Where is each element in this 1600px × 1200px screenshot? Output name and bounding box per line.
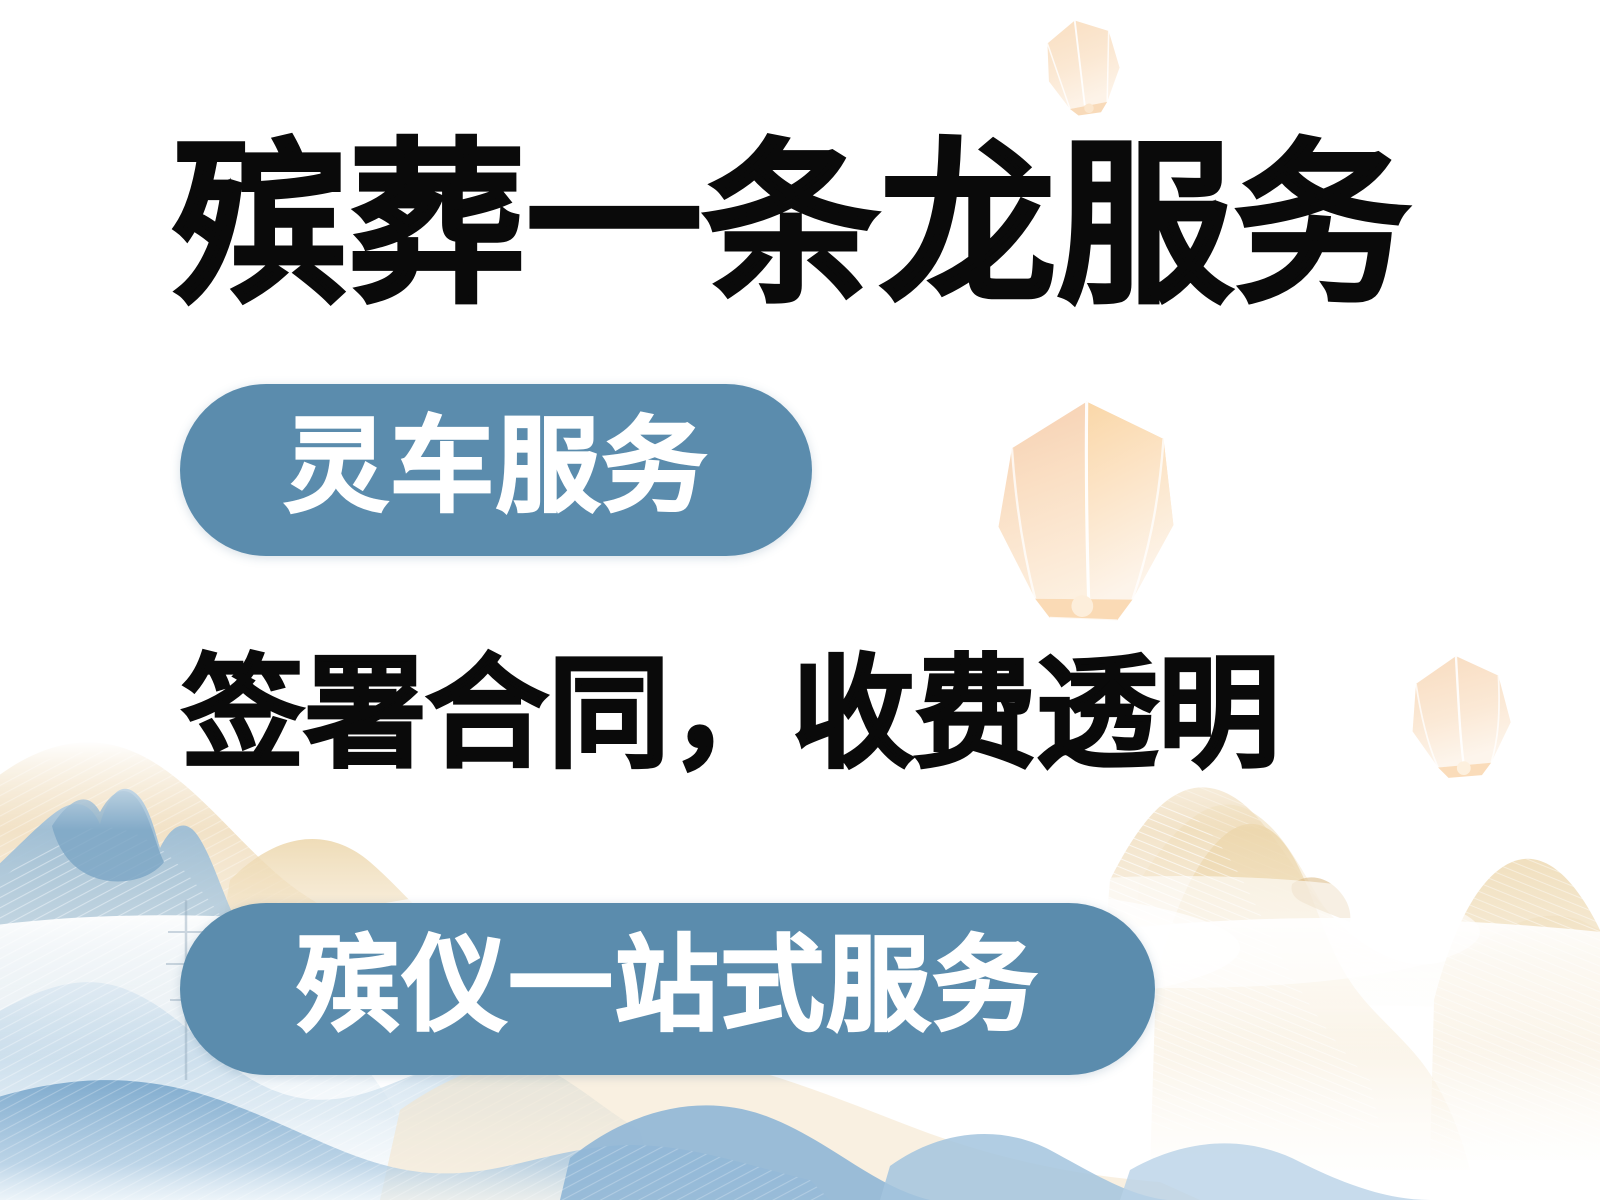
- pill-hearse-service[interactable]: 灵车服务: [180, 384, 812, 556]
- pill-one-stop-service-label: 殡仪一站式服务: [296, 934, 1038, 1044]
- pill-one-stop-service[interactable]: 殡仪一站式服务: [180, 903, 1155, 1075]
- page-title: 殡葬一条龙服务: [172, 140, 1432, 316]
- subtitle-contract-transparent-pricing: 签署合同，收费透明: [182, 655, 1382, 777]
- poster-content: 殡葬一条龙服务 灵车服务 签署合同，收费透明 殡仪一站式服务: [0, 0, 1600, 1200]
- pill-hearse-service-label: 灵车服务: [284, 415, 708, 525]
- poster-canvas: 殡葬一条龙服务 灵车服务 签署合同，收费透明 殡仪一站式服务: [0, 0, 1600, 1200]
